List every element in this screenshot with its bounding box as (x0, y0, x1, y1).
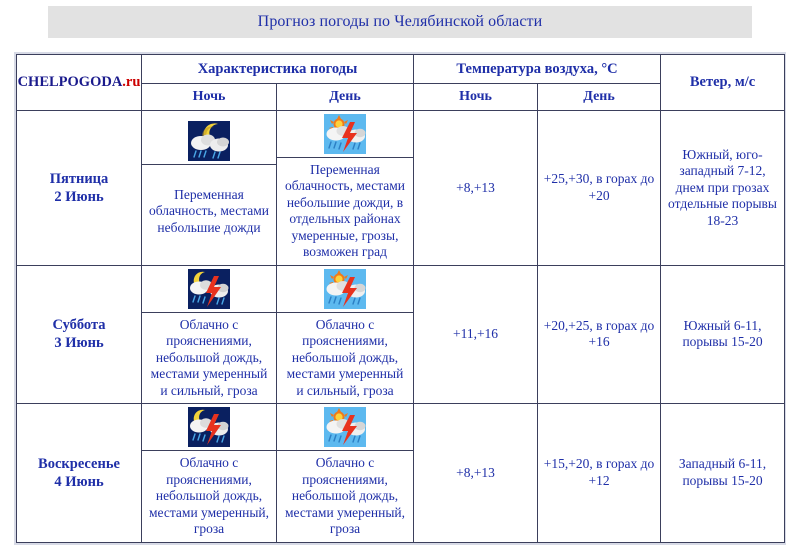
weather-icon-box (277, 404, 413, 451)
weather-icon-box (277, 266, 413, 313)
header-wind-group: Ветер, м/с (661, 55, 785, 111)
weather-day-cell: Облачно с прояснениями, небольшой дождь,… (277, 404, 414, 542)
temp-day-value: +25,+30, в горах до +20 (538, 168, 660, 207)
weather-desc-box: Облачно с прояснениями, небольшой дождь,… (277, 313, 413, 403)
day-name: Пятница (17, 170, 141, 188)
temp-night-value: +8,+13 (414, 177, 537, 199)
sun-clouds-thunder-rain-icon (324, 407, 366, 447)
table-header: CHELPOGODA.ru Характеристика погоды Темп… (17, 55, 785, 111)
weather-icon-box (277, 111, 413, 158)
sun-clouds-thunder-rain-icon (324, 114, 366, 154)
weather-day-desc: Облачно с прояснениями, небольшой дождь,… (282, 317, 408, 399)
temp-night-value: +11,+16 (414, 323, 537, 345)
brand-name: CHELPOGODA (18, 74, 123, 90)
weather-desc-box: Облачно с прояснениями, небольшой дождь,… (277, 451, 413, 541)
weather-day-cell: Переменная облачность, местами небольшие… (277, 111, 414, 266)
wind-value: Южный 6-11, порывы 15-20 (661, 315, 784, 354)
weather-night-cell: Переменная облачность, местами небольшие… (142, 111, 277, 266)
weather-night-cell: Облачно с прояснениями, небольшой дождь,… (142, 404, 277, 542)
wind-cell: Западный 6-11, порывы 15-20 (661, 404, 785, 542)
header-weather-day: День (277, 84, 414, 111)
table-row: Суббота 3 Июнь (17, 265, 785, 403)
day-label-cell: Пятница 2 Июнь (17, 111, 142, 266)
temp-day-value: +20,+25, в горах до +16 (538, 315, 660, 354)
day-date: 2 Июнь (17, 188, 141, 206)
weather-night-desc: Облачно с прояснениями, небольшой дождь,… (147, 455, 271, 537)
temp-night-cell: +11,+16 (414, 265, 538, 403)
weather-desc-box: Переменная облачность, местами небольшие… (142, 165, 276, 258)
weather-day-cell: Облачно с прояснениями, небольшой дождь,… (277, 265, 414, 403)
day-name: Суббота (17, 316, 141, 334)
temp-day-cell: +25,+30, в горах до +20 (538, 111, 661, 266)
day-date: 3 Июнь (17, 334, 141, 352)
weather-day-desc: Переменная облачность, местами небольшие… (282, 162, 408, 261)
day-label-cell: Суббота 3 Июнь (17, 265, 142, 403)
page-title: Прогноз погоды по Челябинской области (258, 13, 543, 31)
page-title-banner: Прогноз погоды по Челябинской области (48, 6, 752, 38)
header-temp-day: День (538, 84, 661, 111)
header-temp-night: Ночь (414, 84, 538, 111)
wind-value: Западный 6-11, порывы 15-20 (661, 453, 784, 492)
day-date: 4 Июнь (17, 473, 141, 491)
table-body: Пятница 2 Июнь (17, 111, 785, 543)
weather-icon-box (142, 118, 276, 165)
moon-clouds-rain-icon (188, 121, 230, 161)
weather-forecast-page: Прогноз погоды по Челябинской области CH… (0, 0, 797, 516)
weather-icon-box (142, 266, 276, 313)
header-row-groups: CHELPOGODA.ru Характеристика погоды Темп… (17, 55, 785, 84)
brand-tld: .ru (122, 74, 140, 90)
weather-night-cell: Облачно с прояснениями, небольшой дождь,… (142, 265, 277, 403)
weather-desc-box: Облачно с прояснениями, небольшой дождь,… (142, 313, 276, 403)
header-weather-group: Характеристика погоды (142, 55, 414, 84)
table-row: Пятница 2 Июнь (17, 111, 785, 266)
forecast-table: CHELPOGODA.ru Характеристика погоды Темп… (16, 54, 785, 543)
temp-day-cell: +15,+20, в горах до +12 (538, 404, 661, 542)
forecast-table-frame: CHELPOGODA.ru Характеристика погоды Темп… (14, 52, 786, 545)
weather-night-desc: Переменная облачность, местами небольшие… (147, 187, 271, 236)
weather-desc-box: Облачно с прояснениями, небольшой дождь,… (142, 451, 276, 541)
temp-day-cell: +20,+25, в горах до +16 (538, 265, 661, 403)
sun-clouds-thunder-rain-icon (324, 269, 366, 309)
weather-night-desc: Облачно с прояснениями, небольшой дождь,… (147, 317, 271, 399)
weather-day-desc: Облачно с прояснениями, небольшой дождь,… (282, 455, 408, 537)
temp-night-cell: +8,+13 (414, 111, 538, 266)
header-temperature-group: Температура воздуха, °С (414, 55, 661, 84)
moon-clouds-thunder-rain-icon (188, 269, 230, 309)
weather-desc-box: Переменная облачность, местами небольшие… (277, 158, 413, 265)
wind-cell: Южный 6-11, порывы 15-20 (661, 265, 785, 403)
brand-cell[interactable]: CHELPOGODA.ru (17, 55, 142, 111)
table-row: Воскресенье 4 Июнь (17, 404, 785, 542)
temp-day-value: +15,+20, в горах до +12 (538, 453, 660, 492)
weather-icon-box (142, 404, 276, 451)
day-label-cell: Воскресенье 4 Июнь (17, 404, 142, 542)
header-weather-night: Ночь (142, 84, 277, 111)
moon-clouds-thunder-rain-icon (188, 407, 230, 447)
temp-night-cell: +8,+13 (414, 404, 538, 542)
wind-cell: Южный, юго-западный 7-12, днем при гроза… (661, 111, 785, 266)
temp-night-value: +8,+13 (414, 462, 537, 484)
wind-value: Южный, юго-западный 7-12, днем при гроза… (661, 144, 784, 232)
day-name: Воскресенье (17, 455, 141, 473)
